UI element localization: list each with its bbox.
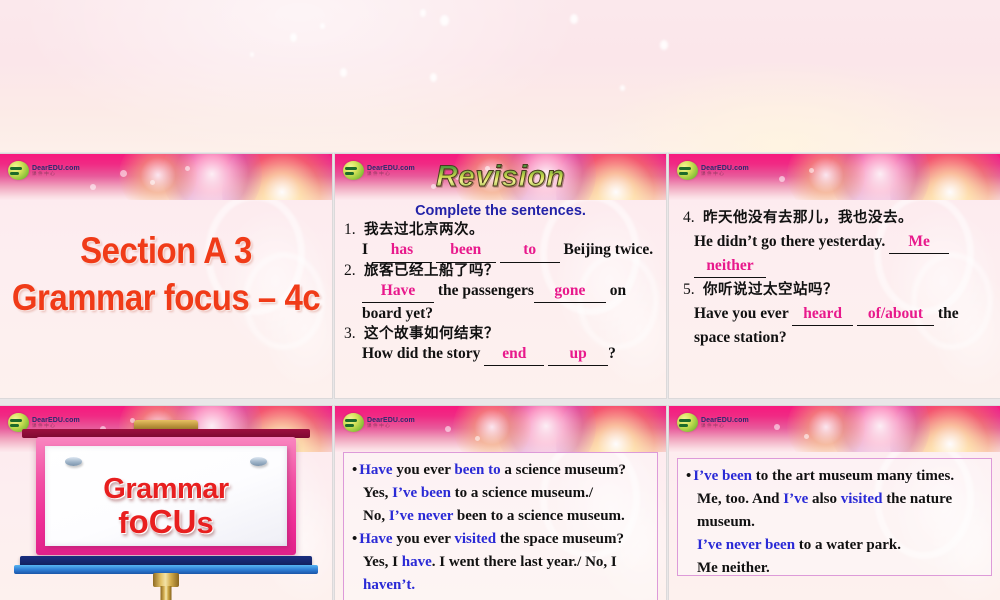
firework-burst-icon [787,406,865,452]
board-text-line-2: foCUs [45,503,287,541]
firework-burst-icon [453,406,531,452]
firework-burst-icon [496,406,596,452]
board-pole [161,586,172,600]
example-line: Me, too. And I’ve also visited the natur… [686,488,983,511]
question-item-4: 4.昨天他没有去那儿，我也没去。 [683,206,992,230]
answer-blank[interactable]: has [372,239,432,262]
question-chinese: 昨天他没有去那儿，我也没去。 [703,210,913,226]
answer-blank[interactable]: to [500,239,560,262]
bullet-icon: • [352,531,357,547]
background-slide-banner [0,0,1000,152]
question-item-1: 1.我去过北京两次。 [344,222,660,238]
firework-burst-icon [787,154,865,200]
board-stand-top [153,573,179,587]
highlight-text: I’ve never [389,508,453,524]
example-line: haven’t. [352,574,649,597]
question-number: 4. [683,206,703,229]
magnet-icon [65,457,82,466]
question-chinese: 这个故事如何结束？ [364,326,499,342]
question-item-2: 2.旅客已经上船了吗？ [344,263,660,279]
answer-blank[interactable]: Have [362,280,434,303]
firework-burst-icon [830,154,930,200]
answer-line-5: Have you ever heard of/about the space s… [683,302,992,350]
bullet-icon: • [352,462,357,478]
example-line: Yes, I’ve been to a science museum./ [352,482,649,505]
highlight-text: haven’t. [363,577,415,593]
dearedu-logo-icon [8,161,29,180]
firework-burst-icon [119,154,197,200]
slide-1-title[interactable]: DearEDU.com 课件中心 Section A 3 Grammar foc… [0,154,332,398]
slide-grid-page: DearEDU.com 课件中心 Section A 3 Grammar foc… [0,0,1000,600]
dearedu-logo: DearEDU.com 课件中心 [677,161,749,180]
board-surface: Grammar foCUs [45,446,287,546]
magnet-icon [250,457,267,466]
answer-blank[interactable]: end [484,343,544,366]
board-text-s: s [196,505,213,540]
question-chinese: 旅客已经上船了吗？ [364,263,499,279]
firework-burst-icon [830,406,930,452]
slide-2-revision[interactable]: DearEDU.com 课件中心 Revision Complete the s… [335,154,666,398]
answer-line-4: He didn’t go there yesterday. Me [683,230,992,254]
question-item-3: 3.这个故事如何结束？ [344,326,660,342]
question-number: 3. [344,326,364,342]
dearedu-logo: DearEDU.com 课件中心 [677,413,749,432]
firework-burst-icon [162,154,262,200]
firework-burst-icon [890,154,1000,200]
firework-burst-icon [222,154,332,200]
logo-sub-text: 课件中心 [701,424,749,429]
answer-prefix: Have you ever [694,305,788,322]
example-line: •I’ve been to the art museum many times. [686,465,983,488]
slide-3-revision-continued[interactable]: DearEDU.com 课件中心 4.昨天他没有去那儿，我也没去。 He did… [669,154,1000,398]
board-text-line-1: Grammar [45,473,287,506]
highlight-text: Have [359,531,392,547]
dearedu-logo: DearEDU.com 课件中心 [8,161,80,180]
highlight-text: I’ve never been [697,537,795,553]
dearedu-logo-icon [677,161,698,180]
slide-5-grammar-examples[interactable]: DearEDU.com 课件中心 •Have you ever been to … [335,406,666,600]
answer-blank[interactable]: Me [889,230,949,254]
question-number: 1. [344,222,364,238]
answer-blank[interactable]: of/about [857,302,934,326]
question-chinese: 你听说过太空站吗？ [703,282,838,298]
answer-prefix: I [362,241,368,258]
slide-6-grammar-examples[interactable]: DearEDU.com 课件中心 •I’ve been to the art m… [669,406,1000,600]
instruction-text: Complete the sentences. [335,203,666,219]
page-title: Section A 3 Grammar focus – 4c [0,227,332,320]
answer-line-1: I has been to Beijing twice. [362,239,660,262]
question-number: 2. [344,263,364,279]
highlight-text: been to [454,462,500,478]
answer-prefix: He didn’t go there yesterday. [694,233,885,250]
question-list: 4.昨天他没有去那儿，我也没去。 He didn’t go there yest… [683,206,992,350]
board-frame: Grammar foCUs [36,437,296,555]
example-line: I’ve never been to a water park. [686,534,983,557]
example-line: •Have you ever visited the space museum? [352,528,649,551]
question-list: 1.我去过北京两次。 I has been to Beijing twice. … [344,222,660,366]
dearedu-logo-icon [343,413,364,432]
plain-text: to the art museum many times. [752,468,954,484]
revision-heading: Revision [335,160,666,194]
bullet-icon: • [686,468,691,484]
title-line-1: Section A 3 [0,227,332,274]
plain-text: No, [363,508,389,524]
answer-blank[interactable]: neither [694,254,766,278]
example-line: Yes, I have. I went there last year./ No… [352,551,649,574]
plain-text: to a water park. [795,537,901,553]
plain-text: a science museum? [501,462,626,478]
example-text-box: •I’ve been to the art museum many times.… [677,458,992,576]
logo-sub-text: 课件中心 [32,172,80,177]
plain-text: you ever [393,531,455,547]
answer-prefix: How did the story [362,345,480,362]
highlight-text: Have [359,462,392,478]
plain-text: also [808,491,841,507]
plain-text: you ever [393,462,455,478]
slide-4-grammar-focus[interactable]: DearEDU.com 课件中心 Grammar foCUs [0,406,332,600]
whiteboard-graphic: Grammar foCUs [0,420,332,600]
answer-line-4b: neither [683,254,992,278]
answer-line-3: How did the story end up? [362,343,660,366]
firework-burst-icon [556,406,666,452]
plain-text: Yes, I [363,554,402,570]
question-item-5: 5.你听说过太空站吗？ [683,278,992,302]
answer-line-2: Have the passengersgone on board yet? [362,280,660,326]
highlight-text: have [402,554,432,570]
highlight-text: visited [841,491,883,507]
question-chinese: 我去过北京两次。 [364,222,484,238]
board-text-f: f [118,505,128,540]
answer-blank[interactable]: heard [792,302,853,326]
plain-text: . I went there last year./ No, I [432,554,617,570]
title-line-2: Grammar focus – 4c [0,274,332,321]
plain-text: the nature [882,491,952,507]
example-line: Me neither. [686,557,983,580]
highlight-text: I’ve [783,491,808,507]
logo-sub-text: 课件中心 [701,172,749,177]
board-text-cu: CU [149,503,197,540]
dearedu-logo-icon [677,413,698,432]
plain-text: the space museum? [496,531,624,547]
answer-blank[interactable]: been [436,239,496,262]
plain-text: been to a science museum. [453,508,625,524]
answer-middle: the passengers [438,282,534,299]
board-text-o: o [129,503,149,540]
answer-blank[interactable]: up [548,343,608,366]
plain-text: museum. [697,514,755,530]
answer-blank[interactable]: gone [534,280,606,303]
logo-sub-text: 课件中心 [367,424,415,429]
answer-suffix: ? [608,345,616,362]
example-line: museum. [686,511,983,534]
example-text-box: •Have you ever been to a science museum?… [343,452,658,600]
highlight-text: I’ve been [693,468,752,484]
example-line: No, I’ve never been to a science museum. [352,505,649,528]
example-line: •Have you ever been to a science museum? [352,459,649,482]
plain-text: Me neither. [697,560,770,576]
answer-suffix: Beijing twice. [564,241,654,258]
highlight-text: visited [454,531,496,547]
highlight-text: I’ve been [392,485,451,501]
plain-text: Yes, [363,485,392,501]
firework-burst-icon [890,406,1000,452]
plain-text: Me, too. And [697,491,783,507]
question-number: 5. [683,278,703,301]
plain-text: to a science museum./ [451,485,593,501]
dearedu-logo: DearEDU.com 课件中心 [343,413,415,432]
